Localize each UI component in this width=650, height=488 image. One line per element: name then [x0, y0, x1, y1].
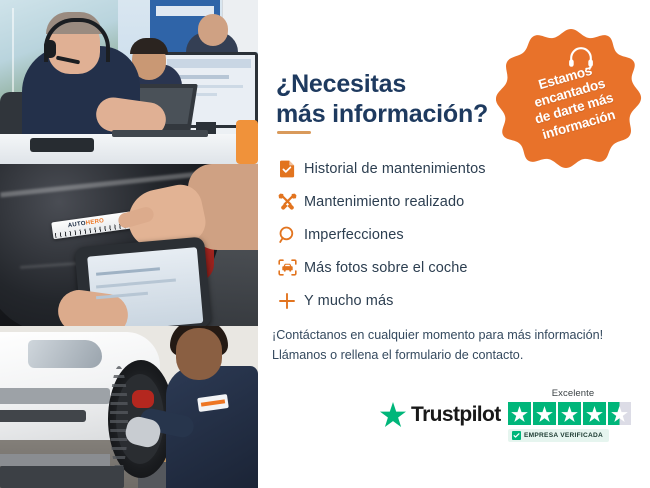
magnifier-icon: [270, 226, 304, 244]
list-item: Más fotos sobre el coche: [270, 251, 630, 284]
feature-list: Historial de mantenimientos M: [270, 152, 630, 317]
car-scan-frame-icon: [270, 259, 304, 276]
star-rating: [508, 402, 638, 425]
verified-label: EMPRESA VERIFICADA: [524, 432, 603, 439]
photo-collage: AUTOHERO: [0, 0, 258, 488]
contact-copy-line-2: Llámanos o rellena el formulario de cont…: [272, 345, 642, 365]
star-2: [533, 402, 556, 425]
lift-arm-upper: [0, 454, 110, 466]
star-4: [583, 402, 606, 425]
plus-icon: [270, 292, 304, 310]
star-1: [508, 402, 531, 425]
list-item: Imperfecciones: [270, 218, 630, 251]
car-bumper-grille: [0, 388, 110, 404]
information-banner: AUTOHERO: [0, 0, 650, 488]
mechanic-tool: [132, 390, 154, 408]
list-item: Mantenimiento realizado: [270, 185, 630, 218]
tools-wrench-screwdriver-icon: [270, 192, 304, 211]
headline-line-1: ¿Necesitas: [276, 70, 406, 98]
trustpilot-star-icon: [380, 402, 406, 427]
verified-company-badge: EMPRESA VERIFICADA: [508, 429, 609, 442]
list-item-label: Más fotos sobre el coche: [304, 260, 468, 276]
contact-copy: ¡Contáctanos en cualquier momento para m…: [272, 325, 642, 366]
call-center-agents-photo: [0, 0, 258, 164]
star-3: [558, 402, 581, 425]
list-item: Y mucho más: [270, 284, 630, 317]
list-item-label: Imperfecciones: [304, 227, 404, 243]
list-item: Historial de mantenimientos: [270, 152, 630, 185]
trustpilot-widget[interactable]: Trustpilot Excelente: [380, 388, 638, 448]
background-person-3-head: [198, 14, 228, 46]
clipboard-check-icon: [270, 159, 304, 178]
trustpilot-rating: Excelente: [508, 388, 638, 444]
title-divider: [277, 131, 311, 134]
vehicle-lift-platform: [0, 466, 124, 488]
list-item-label: Y mucho más: [304, 293, 393, 309]
rating-label: Excelente: [508, 388, 638, 399]
orange-equipment-decor: [236, 120, 258, 164]
laptop-base: [112, 130, 208, 137]
content-panel: ¿Necesitas más información? Estamos: [258, 0, 650, 488]
list-item-label: Mantenimiento realizado: [304, 194, 464, 210]
desk-tablet: [30, 138, 94, 152]
contact-copy-line-1: ¡Contáctanos en cualquier momento para m…: [272, 325, 642, 345]
mechanic-head: [176, 328, 222, 380]
car-lower-grille: [0, 410, 86, 422]
headset-earpad: [44, 40, 56, 58]
star-5-half: [608, 402, 631, 425]
support-badge: Estamos encantados de darte más informac…: [496, 25, 646, 173]
page-title: ¿Necesitas más información?: [276, 69, 526, 130]
tyre-tread: [110, 366, 128, 472]
trustpilot-wordmark: Trustpilot: [411, 403, 501, 427]
headline-line-2: más información?: [276, 100, 488, 128]
car-headlight: [28, 340, 102, 368]
list-item-label: Historial de mantenimientos: [304, 161, 486, 177]
verified-check-icon: [512, 431, 521, 440]
mechanic-wheel-inspection-photo: [0, 326, 258, 488]
vehicle-inspection-ruler-photo: AUTOHERO: [0, 164, 258, 326]
trustpilot-logo[interactable]: Trustpilot: [380, 402, 501, 427]
